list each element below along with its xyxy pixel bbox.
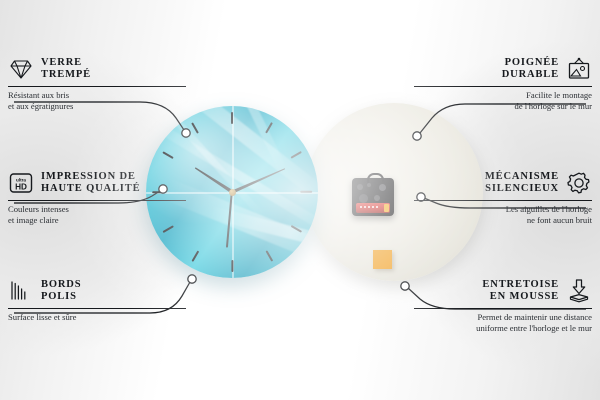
movement-detail (357, 184, 363, 190)
feature-title-line2: DURABLE (502, 69, 559, 82)
feature-sub-line1: Les aiguilles de l'horloge (414, 204, 592, 214)
feature-title-line1: MÉCANISME (485, 171, 559, 184)
callout-poignee-durable: POIGNÉE DURABLE Facilite le montage de l… (414, 56, 592, 111)
hour-tick (162, 151, 174, 159)
infographic-canvas: VERRE TREMPÉ Résistant aux bris et aux é… (0, 0, 600, 400)
callout-mecanisme-silencieux: MÉCANISME SILENCIEUX Les aiguilles de l'… (414, 170, 592, 225)
feature-sub-line1: Résistant aux bris (8, 90, 186, 100)
ultra-hd-icon: ultra HD (8, 170, 34, 196)
feature-sub-line2: et aux égratignures (8, 101, 186, 111)
feature-title-line2: TREMPÉ (41, 69, 91, 82)
aa-battery (356, 203, 390, 213)
foam-spacer-icon (566, 278, 592, 304)
feature-title-line1: VERRE (41, 57, 91, 70)
callout-verre-trempe: VERRE TREMPÉ Résistant aux bris et aux é… (8, 56, 186, 111)
feature-title-line1: ENTRETOISE (482, 279, 559, 292)
divider (414, 308, 592, 309)
feature-title-line2: POLIS (41, 291, 81, 304)
hands-hub (229, 189, 236, 196)
feature-sub-line2: de l'horloge sur le mur (414, 101, 592, 111)
movement-detail (367, 183, 371, 187)
feature-title-line2: EN MOUSSE (482, 291, 559, 304)
svg-text:HD: HD (15, 182, 27, 191)
battery-terminal (384, 204, 389, 212)
feature-title-line1: POIGNÉE (502, 57, 559, 70)
feature-sub-line2: et image claire (8, 215, 186, 225)
divider (414, 200, 592, 201)
hour-tick (162, 225, 174, 233)
movement-detail (359, 194, 368, 203)
feature-title-line2: HAUTE QUALITÉ (41, 183, 140, 196)
callout-impression-haute-qualite: ultra HD IMPRESSION DE HAUTE QUALITÉ Cou… (8, 170, 186, 225)
gear-icon (566, 170, 592, 196)
divider (8, 308, 186, 309)
hour-tick (265, 250, 273, 262)
feature-sub-line2: ne font aucun bruit (414, 215, 592, 225)
divider (414, 86, 592, 87)
divider (8, 86, 186, 87)
diamond-icon (8, 56, 34, 82)
polished-edge-icon (8, 278, 34, 304)
feature-sub-line1: Surface lisse et sûre (8, 312, 186, 322)
feature-sub-line1: Permet de maintenir une distance (414, 312, 592, 322)
feature-title-line2: SILENCIEUX (485, 183, 559, 196)
foam-spacer (373, 250, 392, 269)
quartz-movement (352, 178, 394, 216)
callout-entretoise-en-mousse: ENTRETOISE EN MOUSSE Permet de maintenir… (414, 278, 592, 333)
movement-detail (379, 184, 386, 191)
feature-sub-line1: Facilite le montage (414, 90, 592, 100)
feature-sub-line2: uniforme entre l'horloge et le mur (414, 323, 592, 333)
hour-tick (191, 250, 199, 262)
feature-title-line1: IMPRESSION DE (41, 171, 140, 184)
hour-tick (290, 151, 302, 159)
callout-bords-polis: BORDS POLIS Surface lisse et sûre (8, 278, 186, 323)
divider (8, 200, 186, 201)
battery-label (360, 206, 380, 208)
hour-tick (231, 260, 233, 272)
feature-sub-line1: Couleurs intenses (8, 204, 186, 214)
movement-detail (374, 195, 380, 201)
picture-hanger-icon (566, 56, 592, 82)
feature-title-line1: BORDS (41, 279, 81, 292)
